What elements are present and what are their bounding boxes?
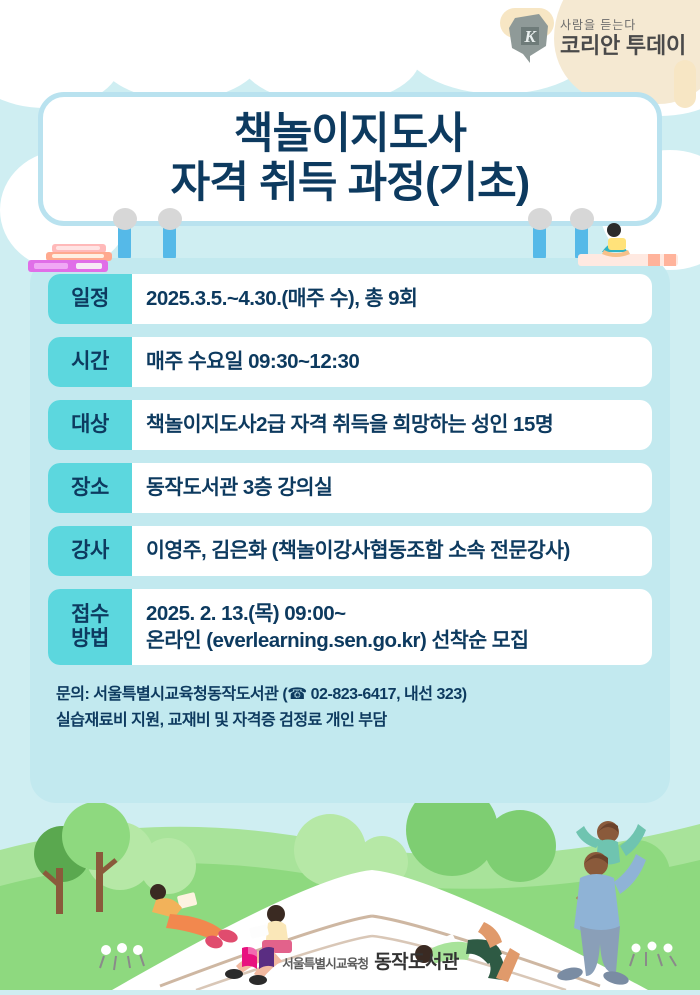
info-row-value-line: 이영주, 김은화 (책놀이강사협동조합 소속 전문강사) <box>146 537 638 564</box>
brand-tagline: 사람을 듣는다 <box>560 19 636 31</box>
info-row-value: 2025.3.5.~4.30.(매주 수), 총 9회 <box>132 274 652 324</box>
pin-cap-2 <box>158 208 182 230</box>
footer-org-small: 서울특별시교육청 <box>282 953 368 972</box>
footer-library-logo: 서울특별시교육청 동작도서관 <box>0 945 700 976</box>
info-row-label-line-2: 방법 <box>71 627 109 651</box>
brand-logo: K 사람을 듣는다 코리안 투데이 <box>506 12 686 64</box>
info-row-instructor: 강사 이영주, 김은화 (책놀이강사협동조합 소속 전문강사) <box>48 526 652 576</box>
info-row-registration: 접수 방법 2025. 2. 13.(목) 09:00~ 온라인 (everle… <box>48 589 652 665</box>
info-row-value-line: 2025.3.5.~4.30.(매주 수), 총 9회 <box>146 285 638 312</box>
info-row-value-line: 책놀이지도사2급 자격 취득을 희망하는 성인 15명 <box>146 411 638 438</box>
info-row-label: 강사 <box>48 526 132 576</box>
info-row-schedule: 일정 2025.3.5.~4.30.(매주 수), 총 9회 <box>48 274 652 324</box>
info-row-value: 2025. 2. 13.(목) 09:00~ 온라인 (everlearning… <box>132 589 652 665</box>
info-row-value-line: 동작도서관 3층 강의실 <box>146 474 638 501</box>
info-row-label: 시간 <box>48 337 132 387</box>
info-row-label: 접수 방법 <box>48 589 132 665</box>
notes-block: 문의: 서울특별시교육청동작도서관 (☎ 02-823-6417, 내선 323… <box>48 678 652 734</box>
pin-cap-3 <box>528 208 552 230</box>
footer-org-big: 동작도서관 <box>374 947 459 974</box>
book-stack-icon <box>28 244 114 279</box>
pin-cap-1 <box>113 208 137 230</box>
poster-title-line-1: 책놀이지도사 <box>234 110 466 159</box>
info-row-label: 장소 <box>48 463 132 513</box>
info-row-label: 일정 <box>48 274 132 324</box>
brand-name: 코리안 투데이 <box>560 35 686 57</box>
cloud-shape-3 <box>240 12 420 104</box>
note-contact: 문의: 서울특별시교육청동작도서관 (☎ 02-823-6417, 내선 323… <box>56 682 648 708</box>
beige-decoration-pill-2 <box>674 60 696 108</box>
info-row-time: 시간 매주 수요일 09:30~12:30 <box>48 337 652 387</box>
poster-title-line-2: 자격 취득 과정(기초) <box>171 159 530 208</box>
open-book-logo-icon <box>241 945 275 976</box>
info-row-value: 이영주, 김은화 (책놀이강사협동조합 소속 전문강사) <box>132 526 652 576</box>
info-row-value: 책놀이지도사2급 자격 취득을 희망하는 성인 15명 <box>132 400 652 450</box>
info-row-value-line: 온라인 (everlearning.sen.go.kr) 선착순 모집 <box>146 627 638 654</box>
poster-title-card: 책놀이지도사 자격 취득 과정(기초) <box>38 92 662 226</box>
reading-person-on-books-icon <box>578 222 686 271</box>
note-fees: 실습재료비 지원, 교재비 및 자격증 검정료 개인 부담 <box>56 708 648 734</box>
info-row-value: 매주 수요일 09:30~12:30 <box>132 337 652 387</box>
info-row-value: 동작도서관 3층 강의실 <box>132 463 652 513</box>
info-row-value-line: 2025. 2. 13.(목) 09:00~ <box>146 600 638 627</box>
info-row-label: 대상 <box>48 400 132 450</box>
korean-today-k-logo-icon: K <box>506 12 552 64</box>
info-row-value-line: 매주 수요일 09:30~12:30 <box>146 348 638 375</box>
info-row-audience: 대상 책놀이지도사2급 자격 취득을 희망하는 성인 15명 <box>48 400 652 450</box>
cloud-shape-2 <box>95 0 265 100</box>
svg-text:K: K <box>523 27 537 46</box>
info-row-label-line-1: 접수 <box>71 603 109 627</box>
info-panel: 일정 2025.3.5.~4.30.(매주 수), 총 9회 시간 매주 수요일… <box>30 258 670 803</box>
info-row-place: 장소 동작도서관 3층 강의실 <box>48 463 652 513</box>
